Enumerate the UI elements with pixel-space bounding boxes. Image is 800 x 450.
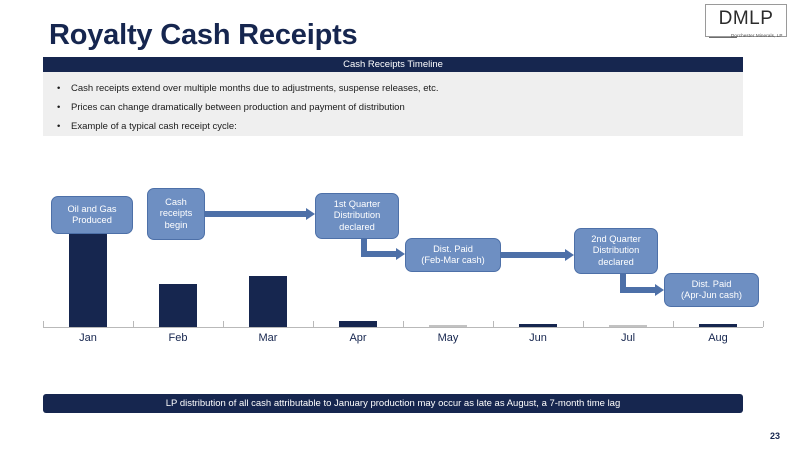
bullet-glyph-icon: •	[57, 102, 67, 114]
bar-jan	[69, 219, 107, 327]
x-axis-label-may: May	[403, 332, 493, 344]
flow-box-label: Dist. Paid(Feb-Mar cash)	[421, 244, 485, 267]
panel-header-title: Cash Receipts Timeline	[43, 57, 743, 72]
arrow-shaft-begin-to-q1	[205, 211, 307, 217]
flow-box-label: Oil and GasProduced	[67, 204, 116, 227]
x-axis-tick	[673, 321, 674, 327]
page-number: 23	[770, 431, 780, 441]
x-axis-label-feb: Feb	[133, 332, 223, 344]
x-axis-tick	[43, 321, 44, 327]
company-logo: DMLP Dorchester Minerals, LP	[703, 4, 791, 46]
arrow-head-q2-to-dist-apr-jun	[655, 284, 664, 296]
x-axis-label-apr: Apr	[313, 332, 403, 344]
flow-box-label: Dist. Paid(Apr-Jun cash)	[681, 279, 742, 302]
bullet-glyph-icon: •	[57, 121, 67, 133]
x-axis-tick	[403, 321, 404, 327]
logo-subtitle: Dorchester Minerals, LP	[731, 33, 793, 38]
bullet-glyph-icon: •	[57, 83, 67, 95]
flow-box-label: 2nd QuarterDistributiondeclared	[591, 234, 641, 269]
arrow-head-q1-to-dist-feb-mar	[396, 248, 405, 260]
cash-receipts-bar-chart: JanFebMarAprMayJunJulAug Oil and GasProd…	[43, 180, 763, 355]
x-axis-tick	[223, 321, 224, 327]
arrow-shaft-q1-to-dist-feb-mar	[361, 251, 397, 257]
bullet-text: Cash receipts extend over multiple month…	[71, 83, 439, 95]
x-axis-label-jan: Jan	[43, 332, 133, 344]
arrow-head-begin-to-q1	[306, 208, 315, 220]
flow-box-label: 1st QuarterDistributiondeclared	[334, 199, 381, 234]
x-axis-label-jun: Jun	[493, 332, 583, 344]
x-axis-line	[43, 327, 763, 328]
bar-jul	[609, 325, 647, 327]
x-axis-tick	[763, 321, 764, 327]
flow-box-oil-and-gas-produced[interactable]: Oil and GasProduced	[51, 196, 133, 234]
bar-may	[429, 325, 467, 327]
x-axis-tick	[133, 321, 134, 327]
bar-jun	[519, 324, 557, 327]
x-axis-tick	[313, 321, 314, 327]
footer-banner: LP distribution of all cash attributable…	[43, 394, 743, 413]
arrow-shaft-q2-to-dist-apr-jun	[620, 287, 656, 293]
flow-box-first-quarter-distribution-declared[interactable]: 1st QuarterDistributiondeclared	[315, 193, 399, 239]
flow-box-cash-receipts-begin[interactable]: Cashreceiptsbegin	[147, 188, 205, 240]
flow-box-dist-paid-apr-jun[interactable]: Dist. Paid(Apr-Jun cash)	[664, 273, 759, 307]
bullet-text: Example of a typical cash receipt cycle:	[71, 121, 237, 133]
flow-box-second-quarter-distribution-declared[interactable]: 2nd QuarterDistributiondeclared	[574, 228, 658, 274]
x-axis-tick	[583, 321, 584, 327]
arrow-head-dist-feb-mar-to-q2	[565, 249, 574, 261]
page-title: Royalty Cash Receipts	[49, 21, 357, 50]
flow-box-label: Cashreceiptsbegin	[160, 197, 193, 232]
x-axis-label-jul: Jul	[583, 332, 673, 344]
bar-mar	[249, 276, 287, 327]
x-axis-tick	[493, 321, 494, 327]
arrow-shaft-dist-feb-mar-to-q2	[501, 252, 567, 258]
cash-receipts-timeline-panel: Cash Receipts Timeline • Cash receipts e…	[43, 57, 743, 136]
bar-apr	[339, 321, 377, 327]
logo-wordmark: DMLP	[703, 8, 789, 30]
bar-feb	[159, 284, 197, 327]
bullet-text: Prices can change dramatically between p…	[71, 102, 405, 114]
x-axis-label-aug: Aug	[673, 332, 763, 344]
flow-box-dist-paid-feb-mar[interactable]: Dist. Paid(Feb-Mar cash)	[405, 238, 501, 272]
bar-aug	[699, 324, 737, 327]
x-axis-label-mar: Mar	[223, 332, 313, 344]
